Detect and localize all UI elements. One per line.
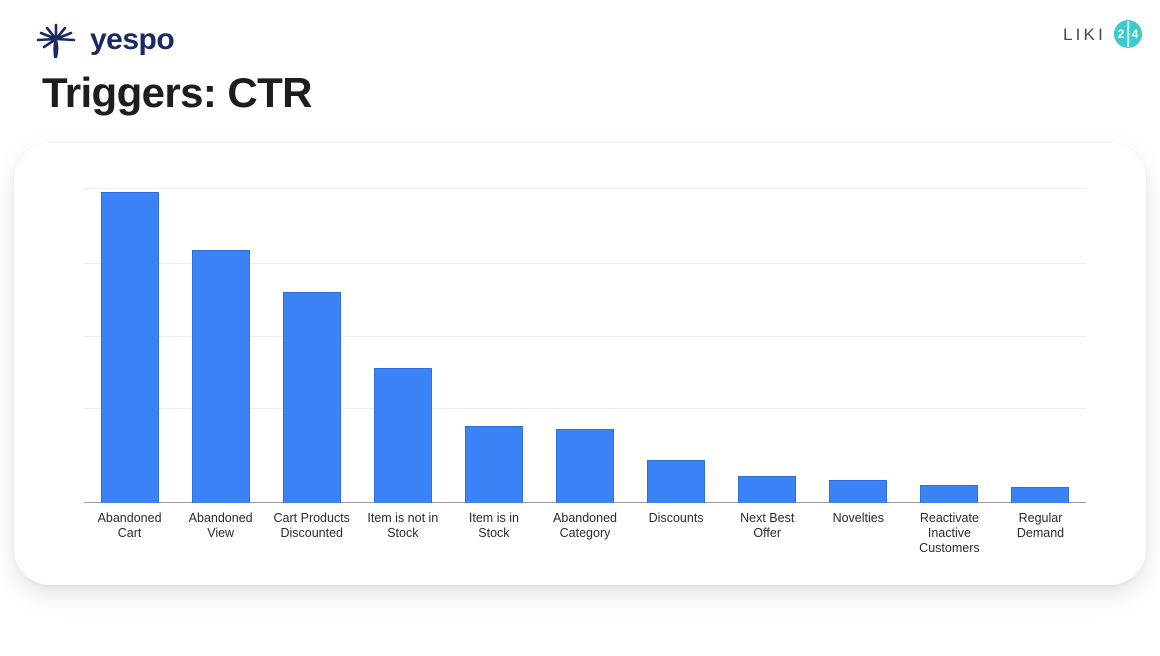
x-axis-label: Discounts — [631, 511, 722, 556]
bar-slot — [266, 188, 357, 503]
x-axis-label: Novelties — [813, 511, 904, 556]
bar-chart: AbandonedCartAbandonedViewCart ProductsD… — [14, 143, 1146, 585]
chart-card: AbandonedCartAbandonedViewCart ProductsD… — [14, 143, 1146, 585]
bar[interactable] — [920, 485, 978, 503]
bar-slot — [448, 188, 539, 503]
bar-slot — [904, 188, 995, 503]
bar-slot — [995, 188, 1086, 503]
bar[interactable] — [192, 250, 250, 503]
partner-badge-left: 2 — [1114, 28, 1128, 40]
bar-slot — [357, 188, 448, 503]
partner-badge-divider — [1127, 21, 1129, 47]
x-axis-label: Item is inStock — [448, 511, 539, 556]
x-axis-label: Item is not inStock — [357, 511, 448, 556]
bar-series — [84, 188, 1086, 503]
bar-slot — [175, 188, 266, 503]
bar[interactable] — [374, 368, 432, 503]
bar[interactable] — [1011, 487, 1069, 503]
bar-slot — [813, 188, 904, 503]
bar[interactable] — [283, 292, 341, 503]
partner-badge-icon: 2 4 — [1114, 20, 1142, 48]
x-axis-label: ReactivateInactiveCustomers — [904, 511, 995, 556]
bar-slot — [722, 188, 813, 503]
x-axis-label: AbandonedCart — [84, 511, 175, 556]
x-axis-labels: AbandonedCartAbandonedViewCart ProductsD… — [84, 511, 1086, 556]
bar-slot — [631, 188, 722, 503]
x-axis-label: Next BestOffer — [722, 511, 813, 556]
bar[interactable] — [556, 429, 614, 503]
plot-area — [84, 188, 1086, 503]
x-axis-label: AbandonedCategory — [539, 511, 630, 556]
bar-slot — [84, 188, 175, 503]
bar[interactable] — [829, 480, 887, 503]
partner-logo: LIKI 2 4 — [1063, 20, 1142, 48]
x-axis-label: RegularDemand — [995, 511, 1086, 556]
bar-slot — [539, 188, 630, 503]
page-title: Triggers: CTR — [42, 70, 312, 116]
partner-name: LIKI — [1063, 26, 1106, 43]
partner-badge-right: 4 — [1128, 28, 1142, 40]
x-axis-label: Cart ProductsDiscounted — [266, 511, 357, 556]
starburst-icon — [34, 18, 78, 62]
brand-name: yespo — [90, 25, 174, 55]
bar[interactable] — [647, 460, 705, 503]
bar[interactable] — [738, 476, 796, 503]
slide-root: yespo LIKI 2 4 Triggers: CTR AbandonedCa… — [0, 0, 1160, 656]
bar[interactable] — [465, 426, 523, 503]
x-axis-label: AbandonedView — [175, 511, 266, 556]
brand-logo: yespo — [34, 18, 174, 62]
bar[interactable] — [101, 192, 159, 503]
